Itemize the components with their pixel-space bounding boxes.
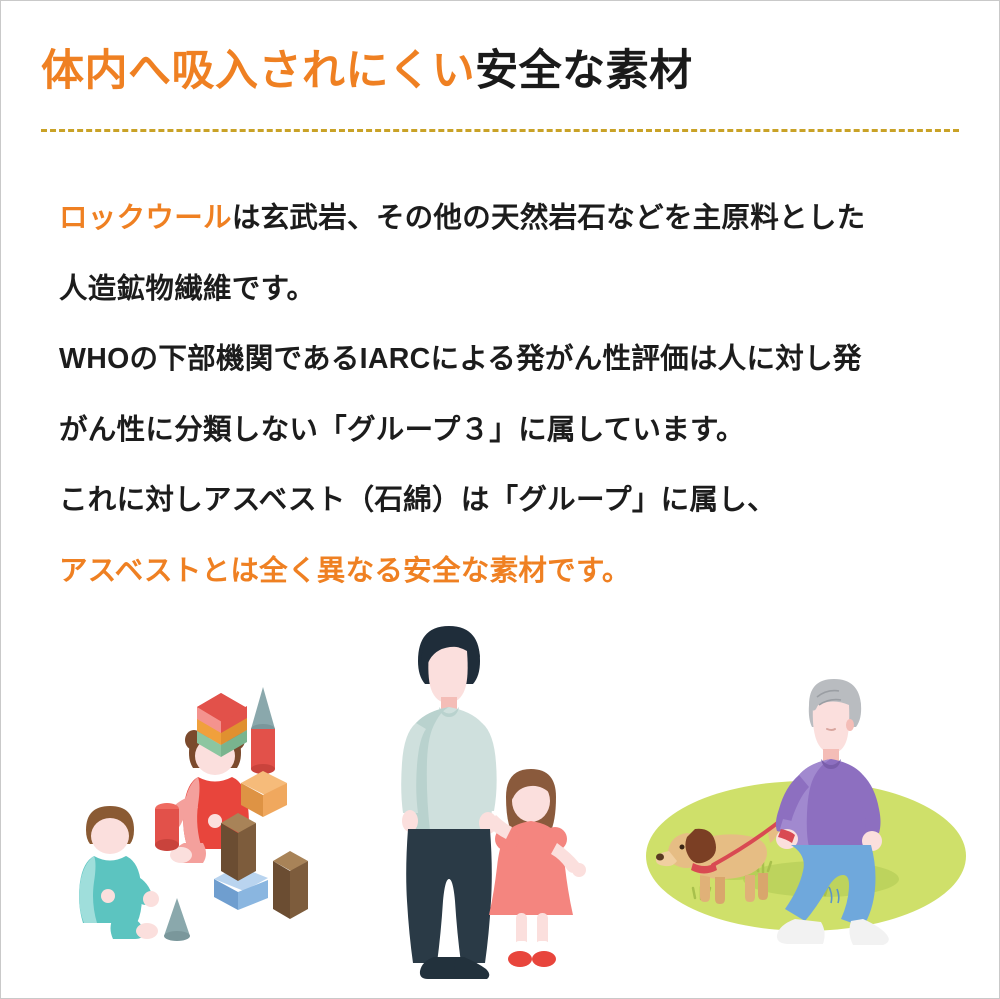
body-line-6: アスベストとは全く異なる安全な素材です。 — [59, 536, 959, 607]
block-wood-column-short — [273, 851, 308, 919]
body-line-1-highlight: ロックウール — [59, 202, 232, 234]
page-title-rest: 安全な素材 — [475, 47, 693, 95]
daughter-figure — [488, 769, 586, 967]
page-title-highlight: 体内へ吸入されにくい — [41, 47, 475, 95]
block-tower-with-cone — [241, 687, 287, 817]
body-line-4: がん性に分類しない「グループ３」に属しています。 — [59, 395, 959, 466]
infographic-page: 体内へ吸入されにくい安全な素材 ロックウールは玄武岩、その他の天然岩石などを主原… — [0, 0, 1000, 999]
block-wood-column-tall — [221, 813, 256, 881]
body-line-2: 人造鉱物繊維です。 — [59, 254, 959, 325]
page-title: 体内へ吸入されにくい安全な素材 — [41, 47, 693, 96]
body-paragraph: ロックウールは玄武岩、その他の天然岩石などを主原料とした 人造鉱物繊維です。 W… — [59, 183, 959, 606]
block-red-cylinder — [155, 803, 179, 851]
shoe-back — [849, 919, 888, 945]
illustration-father-and-daughter — [401, 626, 586, 979]
title-divider — [41, 129, 959, 132]
body-line-5: これに対しアスベスト（石綿）は「グループ」に属し、 — [59, 465, 959, 536]
body-line-3: WHOの下部機関であるIARCによる発がん性評価は人に対し発 — [59, 324, 959, 395]
illustration-elderly-man-walking-dog — [646, 679, 966, 945]
body-line-1: ロックウールは玄武岩、その他の天然岩石などを主原料とした — [59, 183, 959, 254]
father-figure — [401, 626, 497, 979]
block-slate-cone — [164, 898, 190, 941]
illustration-row — [1, 601, 1000, 999]
illustration-children-playing — [79, 687, 308, 941]
body-line-1-rest: は玄武岩、その他の天然岩石などを主原料とした — [232, 202, 866, 234]
child-boy-figure — [79, 806, 159, 939]
